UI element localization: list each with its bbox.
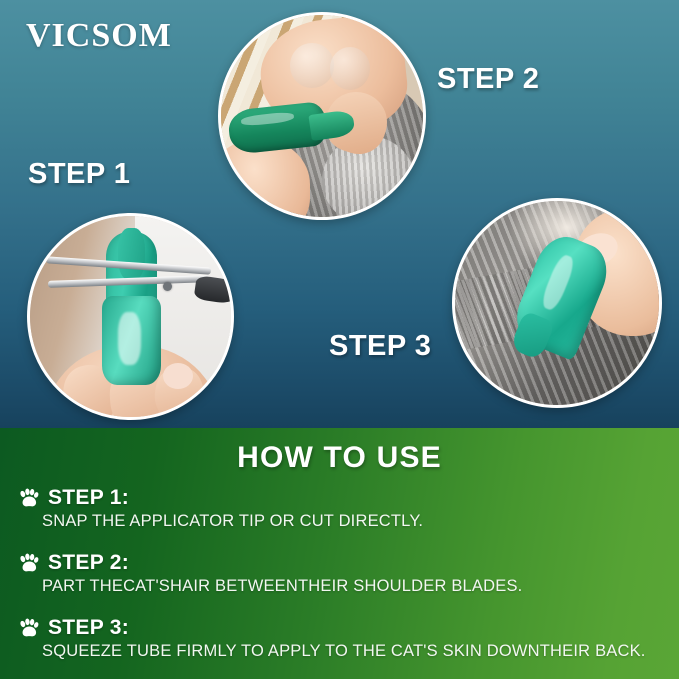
product-infographic: VICSOM [0,0,679,679]
knuckle [290,43,334,87]
applicator-highlight [118,312,140,364]
applicator-tip [118,228,144,280]
step-label: STEP 3: [48,616,129,640]
paw-icon [18,553,40,573]
step-label: STEP 2: [48,551,129,575]
brand-logo: VICSOM [26,17,172,55]
how-to-use-heading: HOW TO USE [0,441,679,475]
paw-icon [18,488,40,508]
fingernail [163,363,193,389]
instruction-step-3: STEP 3: SQUEEZE TUBE FIRMLY TO APPLY TO … [0,616,679,661]
instruction-step-1: STEP 1: SNAP THE APPLICATOR TIP OR CUT D… [0,486,679,531]
photo-label-step-1: STEP 1 [28,158,130,191]
step-description: PART THECAT'SHAIR BETWEENTHEIR SHOULDER … [18,577,679,596]
photo-step-1 [27,213,234,420]
photo-step-2 [218,12,426,220]
photo-label-step-3: STEP 3 [329,330,431,363]
instruction-list: STEP 1: SNAP THE APPLICATOR TIP OR CUT D… [0,486,679,679]
step-description: SQUEEZE TUBE FIRMLY TO APPLY TO THE CAT'… [18,642,679,661]
hand-lower [218,140,310,220]
knuckle [330,47,370,89]
photo-label-step-2: STEP 2 [437,63,539,96]
paw-icon [18,618,40,638]
photo-step-3 [452,198,662,408]
step-label: STEP 1: [48,486,129,510]
instruction-step-2: STEP 2: PART THECAT'SHAIR BETWEENTHEIR S… [0,551,679,596]
step-description: SNAP THE APPLICATOR TIP OR CUT DIRECTLY. [18,512,679,531]
how-to-use-panel: HOW TO USE STEP 1: SNAP THE [0,428,679,679]
photo-panel: VICSOM [0,0,679,428]
scissors-pivot [163,282,172,291]
